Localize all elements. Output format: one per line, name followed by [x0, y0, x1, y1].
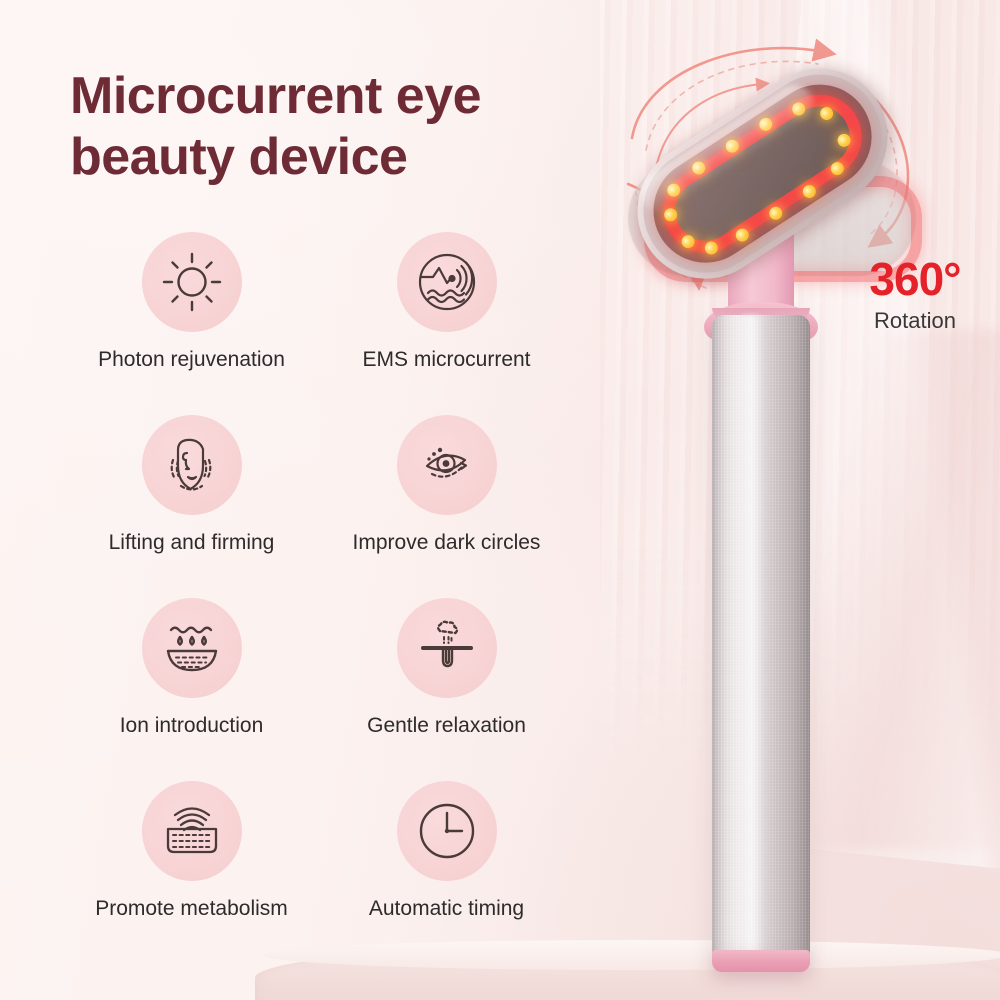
- page-title: Microcurrent eye beauty device: [70, 66, 650, 189]
- feature-grid: Photon rejuvenation EMS microcurr: [64, 232, 584, 964]
- feature-icon-disc: [397, 781, 497, 881]
- rotation-label: Rotation: [840, 308, 990, 334]
- feature-item-ems-microcurrent: EMS microcurrent: [319, 232, 574, 415]
- product-device: 360° Rotation: [600, 10, 1000, 1000]
- ems-wave-icon: [414, 249, 480, 315]
- feature-item-ion-introduction: Ion introduction: [64, 598, 319, 781]
- feature-row: Promote metabolism Automatic timing: [64, 781, 584, 964]
- feature-row: Photon rejuvenation EMS microcurr: [64, 232, 584, 415]
- feature-item-promote-metabolism: Promote metabolism: [64, 781, 319, 964]
- rotation-degrees: 360°: [840, 256, 990, 302]
- rotation-callout: 360° Rotation: [840, 256, 990, 334]
- feature-icon-disc: [142, 781, 242, 881]
- hair-follicle-icon: [414, 615, 480, 681]
- feature-row: Ion introduction Gentle relaxation: [64, 598, 584, 781]
- feature-icon-disc: [142, 598, 242, 698]
- feature-label: Automatic timing: [369, 897, 524, 921]
- title-line-1: Microcurrent eye: [70, 67, 481, 125]
- feature-icon-disc: [142, 232, 242, 332]
- eye-icon: [414, 432, 480, 498]
- feature-item-improve-dark-circles: Improve dark circles: [319, 415, 574, 598]
- feature-row: Lifting and firming Improve dark: [64, 415, 584, 598]
- feature-icon-disc: [397, 598, 497, 698]
- clock-icon: [414, 798, 480, 864]
- feature-label: EMS microcurrent: [362, 348, 530, 372]
- feature-item-photon-rejuvenation: Photon rejuvenation: [64, 232, 319, 415]
- feature-item-lifting-and-firming: Lifting and firming: [64, 415, 319, 598]
- water-absorption-icon: [159, 615, 225, 681]
- feature-label: Improve dark circles: [353, 531, 541, 555]
- device-handle: [712, 315, 810, 970]
- feature-label: Lifting and firming: [109, 531, 275, 555]
- feature-label: Photon rejuvenation: [98, 348, 285, 372]
- skin-layer-waves-icon: [159, 798, 225, 864]
- handle-highlight: [738, 315, 764, 970]
- feature-label: Ion introduction: [120, 714, 264, 738]
- feature-icon-disc: [397, 415, 497, 515]
- device-handle-base: [712, 950, 810, 972]
- feature-icon-disc: [142, 415, 242, 515]
- sun-icon: [159, 249, 225, 315]
- feature-icon-disc: [397, 232, 497, 332]
- face-lifting-icon: [159, 432, 225, 498]
- product-marketing-image: Microcurrent eye beauty device: [0, 0, 1000, 1000]
- feature-label: Promote metabolism: [95, 897, 288, 921]
- feature-item-gentle-relaxation: Gentle relaxation: [319, 598, 574, 781]
- feature-label: Gentle relaxation: [367, 714, 526, 738]
- feature-item-automatic-timing: Automatic timing: [319, 781, 574, 964]
